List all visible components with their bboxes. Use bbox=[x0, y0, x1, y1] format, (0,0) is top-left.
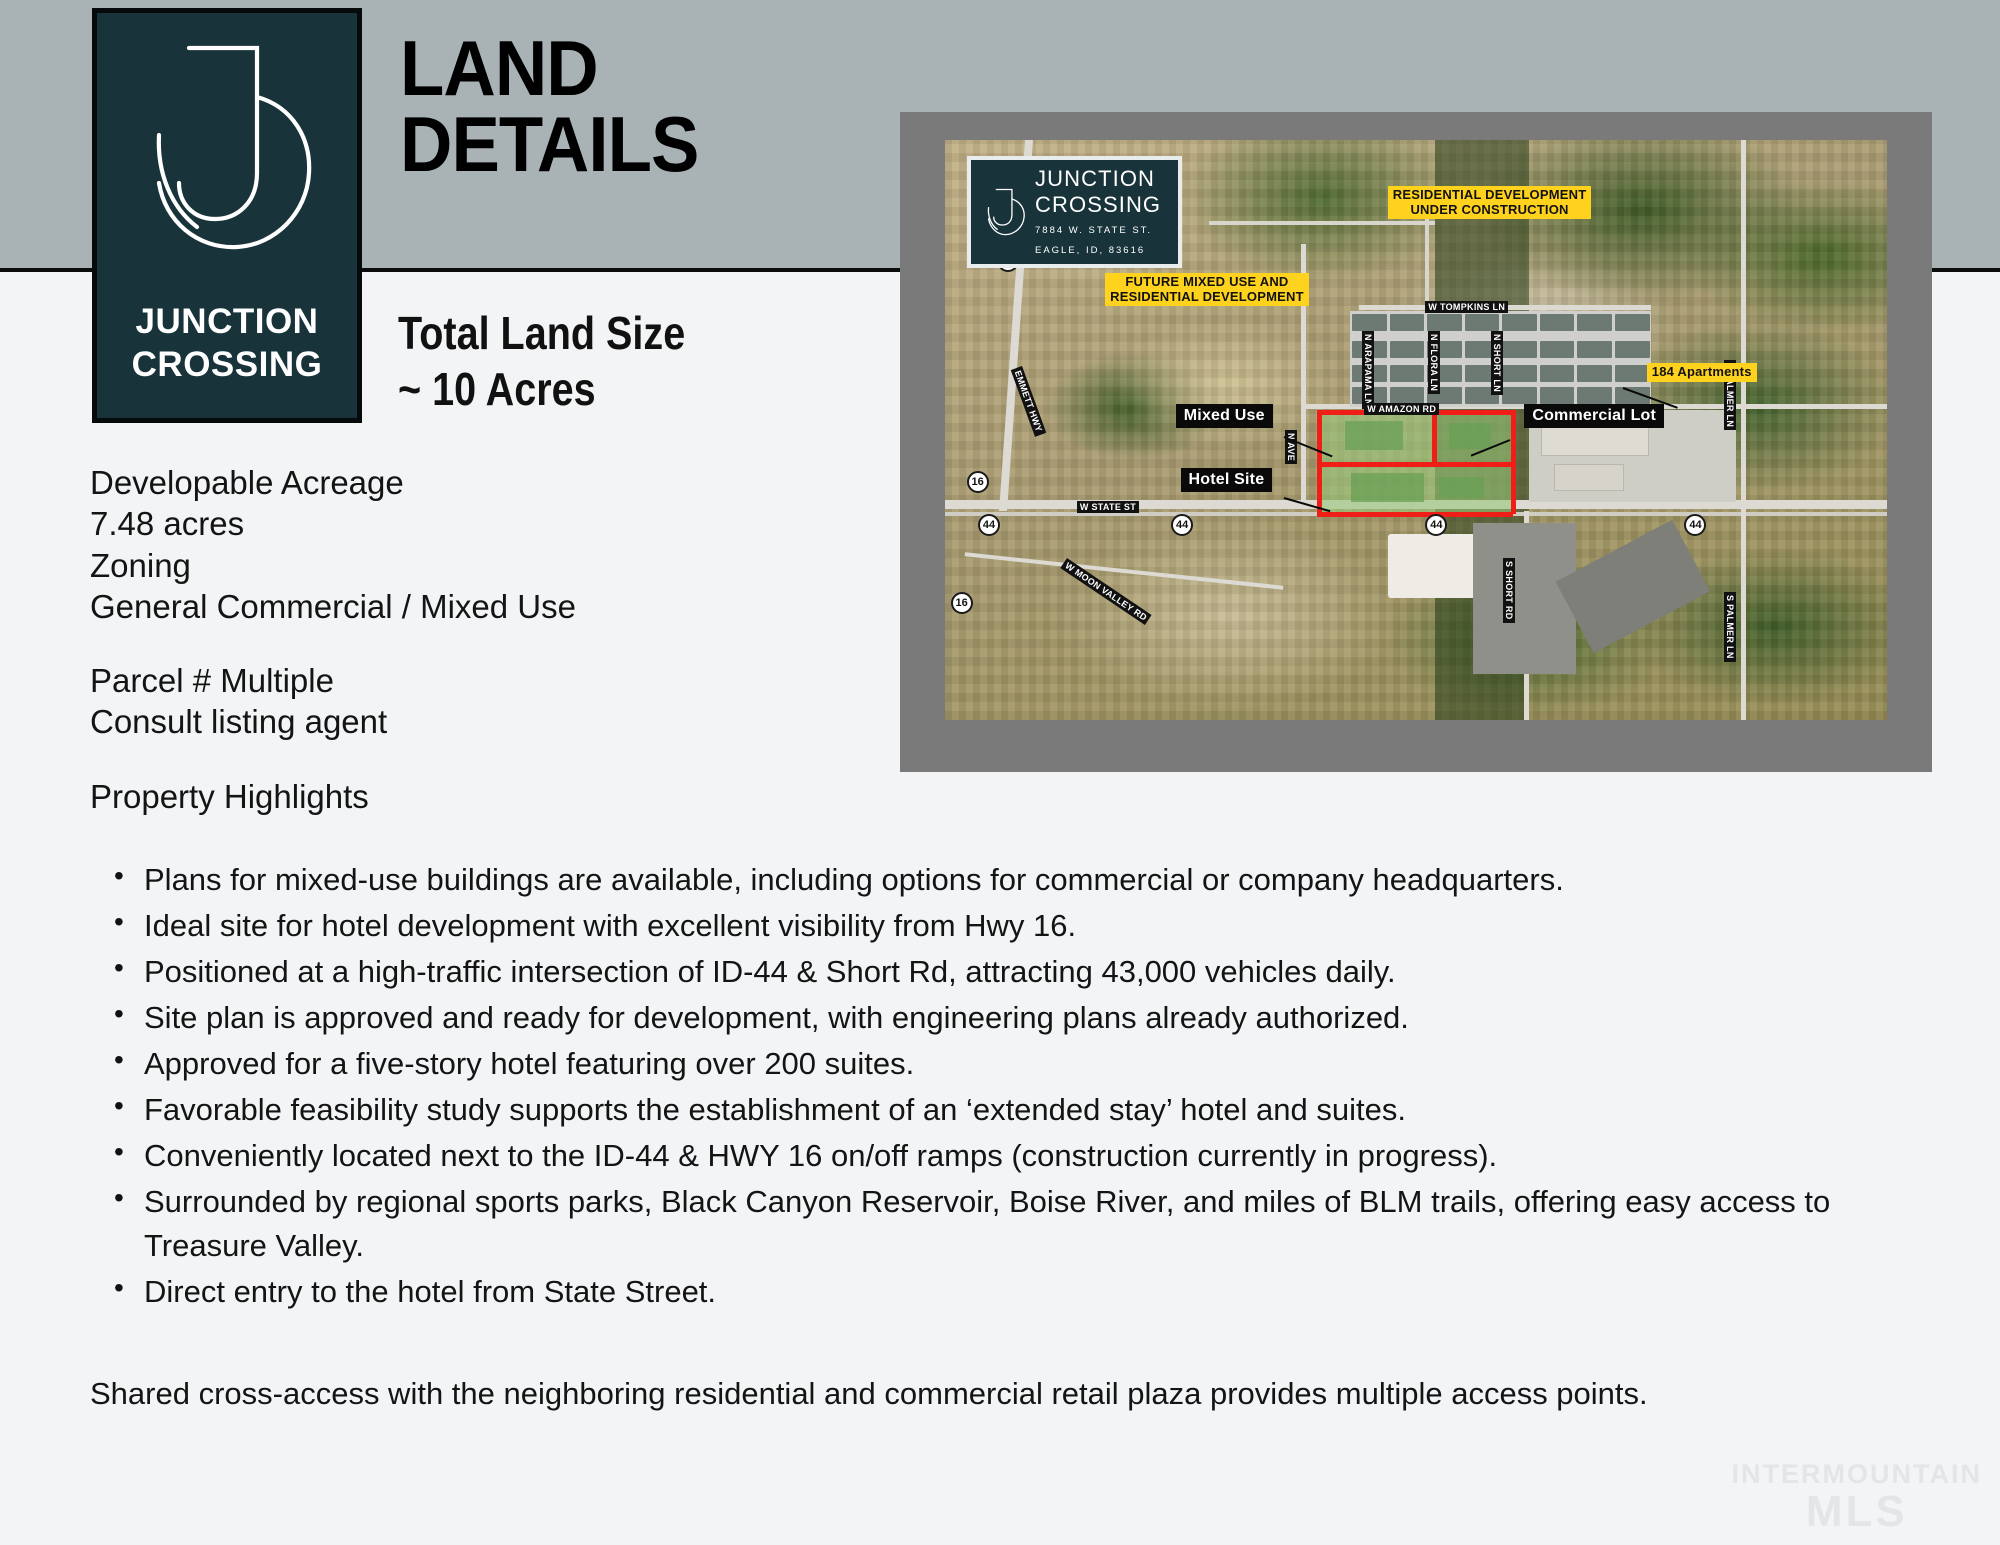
parcel-number-label: Parcel # Multiple bbox=[90, 660, 850, 701]
mls-watermark-line1: INTERMOUNTAIN bbox=[1732, 1460, 1982, 1488]
map-card-address-line2: EAGLE, ID, 83616 bbox=[1035, 244, 1161, 258]
jc-monogram-icon bbox=[979, 183, 1031, 241]
brand-wordmark-line2: CROSSING bbox=[97, 344, 357, 387]
property-highlights-heading: Property Highlights bbox=[90, 776, 850, 817]
callout-184-apartments: 184 Apartments bbox=[1647, 363, 1757, 382]
route-shield-16: 16 bbox=[951, 592, 973, 614]
mls-watermark-line2: MLS bbox=[1732, 1489, 1982, 1535]
zoning-label: Zoning bbox=[90, 545, 850, 586]
page-title-line2: DETAILS bbox=[400, 106, 921, 182]
parcel-boundary-bottom bbox=[1317, 512, 1513, 517]
map-card-brand-line1: JUNCTION bbox=[1035, 166, 1161, 192]
parcel-boundary-vertical bbox=[1432, 410, 1437, 464]
land-size-subhead: Total Land Size ~ 10 Acres bbox=[398, 305, 880, 417]
road-label-w-amazon-rd: W AMAZON RD bbox=[1364, 403, 1439, 415]
brand-wordmark-line1: JUNCTION bbox=[97, 301, 357, 344]
list-item: Favorable feasibility study supports the… bbox=[96, 1088, 1896, 1132]
list-item: Plans for mixed-use buildings are availa… bbox=[96, 858, 1896, 902]
parcel-hotel-site bbox=[1321, 465, 1511, 512]
parcel-boundary-middle bbox=[1317, 462, 1513, 467]
cross-access-paragraph: Shared cross-access with the neighboring… bbox=[90, 1372, 1920, 1415]
brand-logo-block: JUNCTION CROSSING bbox=[92, 8, 362, 423]
page-title-line1: LAND bbox=[400, 30, 921, 106]
road-connector-north bbox=[1209, 221, 1435, 225]
page-title: LAND DETAILS bbox=[400, 30, 921, 183]
land-details-text: Developable Acreage 7.48 acres Zoning Ge… bbox=[90, 462, 850, 817]
road-label-n-short-ln: N SHORT LN bbox=[1491, 331, 1503, 395]
list-item: Direct entry to the hotel from State Str… bbox=[96, 1270, 1896, 1314]
list-item: Ideal site for hotel development with ex… bbox=[96, 904, 1896, 948]
road-label-n-ave: N AVE bbox=[1285, 430, 1297, 464]
list-item: Surrounded by regional sports parks, Bla… bbox=[96, 1180, 1896, 1268]
land-size-label: Total Land Size bbox=[398, 305, 880, 361]
developable-acreage-label: Developable Acreage bbox=[90, 462, 850, 503]
route-shield-44: 44 bbox=[978, 514, 1000, 536]
property-highlights-list: Plans for mixed-use buildings are availa… bbox=[96, 858, 1896, 1316]
brand-wordmark: JUNCTION CROSSING bbox=[97, 301, 357, 386]
house-row bbox=[1350, 313, 1651, 332]
mls-watermark: INTERMOUNTAIN MLS bbox=[1732, 1460, 1982, 1535]
route-shield-44: 44 bbox=[1171, 514, 1193, 536]
callout-mixed-use: Mixed Use bbox=[1176, 404, 1273, 428]
land-details-slide: LAND DETAILS JUNCTION CROSSING Total Lan… bbox=[0, 0, 2000, 1545]
spacer bbox=[90, 627, 850, 660]
callout-residential-under-construction: RESIDENTIAL DEVELOPMENT UNDER CONSTRUCTI… bbox=[1388, 186, 1592, 219]
map-card-address-line1: 7884 W. STATE ST. bbox=[1035, 224, 1161, 238]
developable-acreage-value: 7.48 acres bbox=[90, 503, 850, 544]
road-label-w-tompkins-ln: W TOMPKINS LN bbox=[1425, 301, 1508, 313]
road-label-s-short-rd: S SHORT RD bbox=[1503, 558, 1515, 623]
callout-hotel-site: Hotel Site bbox=[1181, 468, 1273, 492]
callout-future-mixed-use: FUTURE MIXED USE AND RESIDENTIAL DEVELOP… bbox=[1105, 273, 1309, 306]
church-building bbox=[1388, 534, 1482, 598]
zoning-value: General Commercial / Mixed Use bbox=[90, 586, 850, 627]
jc-monogram-icon bbox=[97, 23, 357, 291]
map-card-brand-line2: CROSSING bbox=[1035, 192, 1161, 218]
map-card-text: JUNCTION CROSSING 7884 W. STATE ST. EAGL… bbox=[1035, 166, 1161, 257]
list-item: Positioned at a high-traffic intersectio… bbox=[96, 950, 1896, 994]
route-shield-16: 16 bbox=[967, 471, 989, 493]
parking-lot bbox=[1473, 523, 1577, 674]
aerial-map-frame: 16 16 16 44 44 44 44 W TOMPKINS LN N ARA… bbox=[900, 112, 1932, 772]
list-item: Site plan is approved and ready for deve… bbox=[96, 996, 1896, 1040]
parcel-number-note: Consult listing agent bbox=[90, 701, 850, 742]
list-item: Conveniently located next to the ID-44 &… bbox=[96, 1134, 1896, 1178]
parcel-mixed-use bbox=[1321, 412, 1432, 462]
road-palmer-ln bbox=[1741, 140, 1746, 720]
road-label-n-arapama-ln: N ARAPAMA LN bbox=[1362, 331, 1374, 409]
road-label-s-palmer-ln: S PALMER LN bbox=[1724, 592, 1736, 662]
road-label-n-flora-ln: N FLORA LN bbox=[1428, 331, 1440, 394]
spacer bbox=[90, 743, 850, 776]
list-item: Approved for a five-story hotel featurin… bbox=[96, 1042, 1896, 1086]
aerial-map-image: 16 16 16 44 44 44 44 W TOMPKINS LN N ARA… bbox=[945, 140, 1887, 720]
land-size-value: ~ 10 Acres bbox=[398, 361, 880, 417]
callout-commercial-lot: Commercial Lot bbox=[1524, 404, 1664, 428]
site-plan-overlay bbox=[1317, 410, 1515, 514]
road-label-w-state-st: W STATE ST bbox=[1077, 501, 1139, 513]
map-brand-card: JUNCTION CROSSING 7884 W. STATE ST. EAGL… bbox=[967, 156, 1182, 268]
